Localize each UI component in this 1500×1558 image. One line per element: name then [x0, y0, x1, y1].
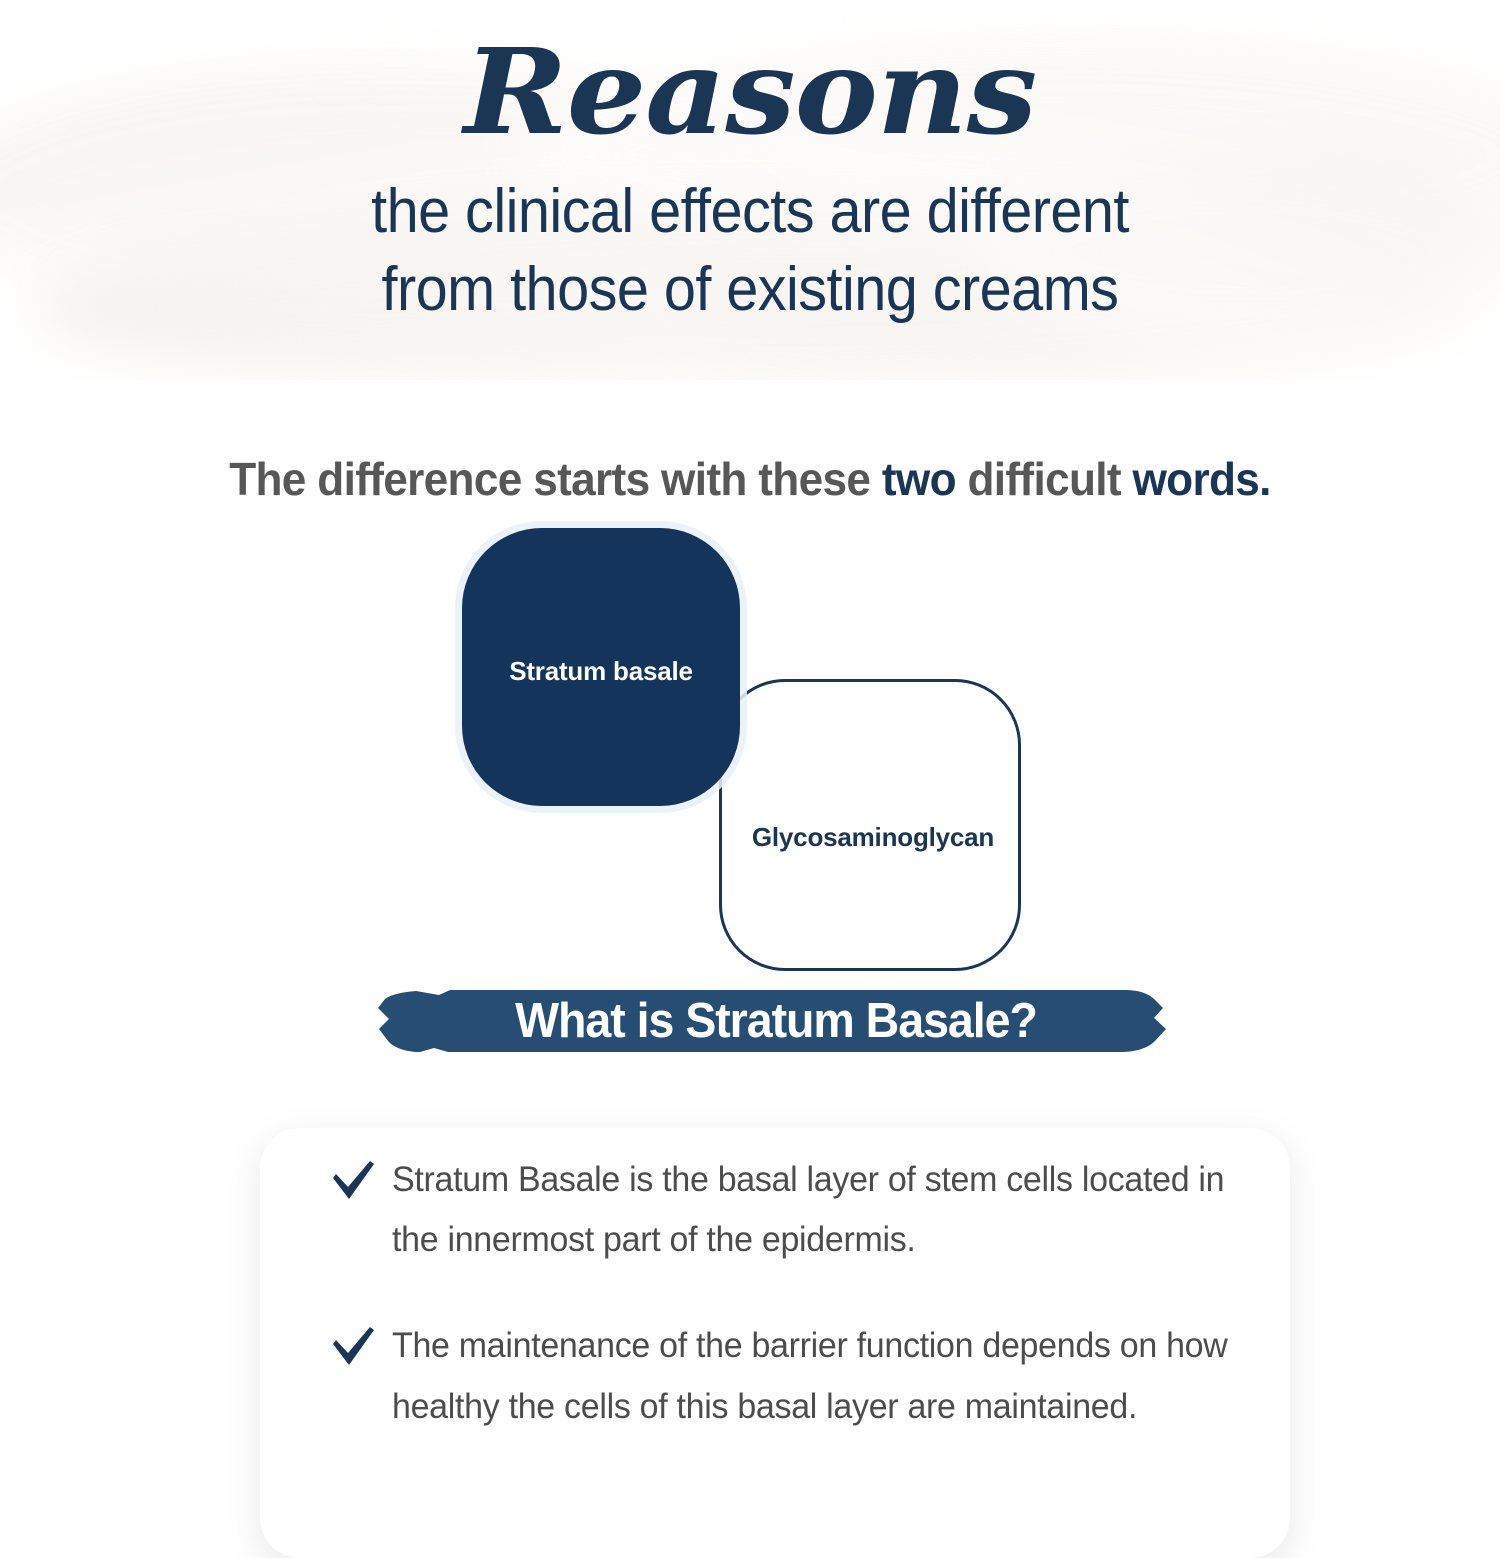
list-item-text: The maintenance of the barrier function …: [392, 1316, 1236, 1436]
subheadline-text-part-2: difficult: [956, 453, 1133, 505]
subheadline-text-part-1: The difference starts with these: [229, 453, 882, 505]
subheadline: The difference starts with these two dif…: [30, 452, 1470, 506]
list-item: The maintenance of the barrier function …: [330, 1316, 1290, 1436]
subheadline-text-part-3: .: [1259, 453, 1271, 505]
checkmark-icon: [330, 1150, 392, 1202]
stratum-basale-box[interactable]: Stratum basale: [462, 528, 740, 806]
hero-script-title: Reasons: [0, 22, 1500, 161]
section-banner: What is Stratum Basale?: [376, 986, 1176, 1056]
checkmark-icon: [330, 1316, 392, 1368]
hero-heading-block: Reasons the clinical effects are differe…: [0, 0, 1500, 329]
bullets-list: Stratum Basale is the basal layer of ste…: [330, 1150, 1290, 1483]
list-item-text: Stratum Basale is the basal layer of ste…: [392, 1150, 1263, 1270]
section-banner-label: What is Stratum Basale?: [396, 986, 1156, 1056]
glycosaminoglycan-box[interactable]: Glycosaminoglycan: [719, 679, 1021, 971]
subheadline-highlight-two: two: [882, 453, 956, 505]
list-item: Stratum Basale is the basal layer of ste…: [330, 1150, 1290, 1270]
glycosaminoglycan-box-label: Glycosaminoglycan: [722, 822, 1024, 853]
hero-subtitle-line-1: the clinical effects are different: [53, 173, 1448, 251]
hero-subtitle-line-2: from those of existing creams: [53, 251, 1448, 329]
stratum-basale-box-label: Stratum basale: [462, 656, 740, 687]
subheadline-highlight-words: words: [1132, 453, 1259, 505]
